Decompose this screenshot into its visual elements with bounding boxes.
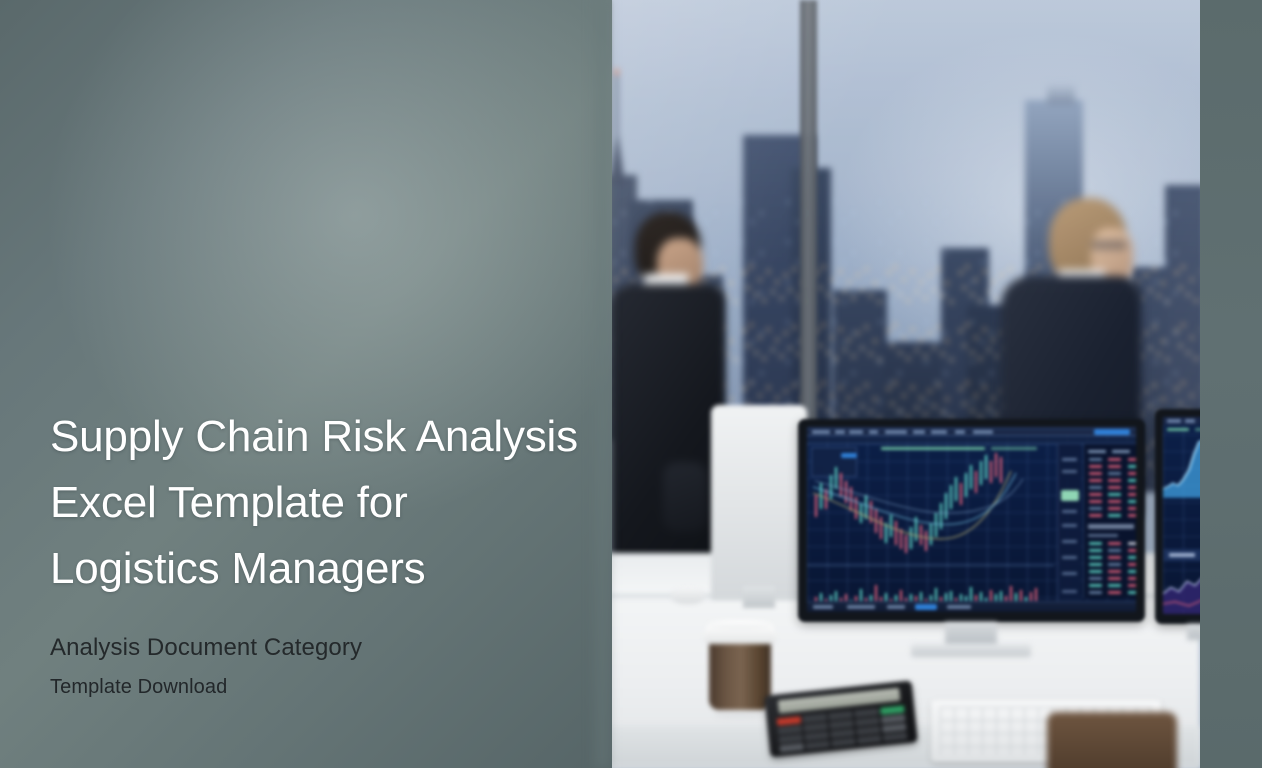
right-color-strip [1200, 0, 1262, 768]
cup-base [714, 710, 766, 719]
office-chair [1047, 712, 1177, 768]
title-text-block: Supply Chain Risk Analysis Excel Templat… [50, 404, 590, 700]
monitor-secondary-stand [1187, 624, 1200, 640]
candlestick-chart [811, 453, 1057, 561]
page-title: Supply Chain Risk Analysis Excel Templat… [50, 404, 590, 602]
ticker-text [881, 447, 985, 450]
terminal-action-button[interactable] [1094, 429, 1130, 435]
monitor-secondary-screen [1163, 417, 1200, 614]
terminal-subtoolbar [807, 436, 1136, 444]
moving-average-lines [811, 453, 1057, 561]
template-download-label: Template Download [50, 674, 590, 700]
cup-rim [707, 620, 773, 629]
terminal-toolbar[interactable] [807, 427, 1136, 436]
monitor-primary-screen [807, 427, 1136, 612]
cup-body [709, 638, 771, 710]
title-panel: Supply Chain Risk Analysis Excel Templat… [0, 0, 612, 768]
mouse [671, 588, 705, 604]
monitor-back-silver [711, 405, 807, 600]
terminal-statusbar [807, 601, 1136, 612]
coffee-cup [709, 620, 771, 716]
market-data-panel[interactable] [1083, 444, 1136, 598]
document-category: Analysis Document Category [50, 633, 590, 663]
last-price-tag [1061, 490, 1079, 501]
secondary-lower-chart [1163, 563, 1200, 614]
ticker-text-2 [991, 447, 1037, 450]
price-axis [1057, 444, 1081, 601]
panel-soft-edge [590, 0, 612, 768]
monitor-secondary [1155, 409, 1200, 624]
monitor-primary-stand [945, 622, 997, 646]
monitor-back-stand [743, 586, 775, 608]
monitor-primary-foot [911, 644, 1031, 657]
monitor-primary [798, 419, 1145, 622]
presentation-slide: Supply Chain Risk Analysis Excel Templat… [0, 0, 1262, 768]
hero-photo [595, 0, 1200, 768]
volume-divider [807, 565, 1054, 566]
